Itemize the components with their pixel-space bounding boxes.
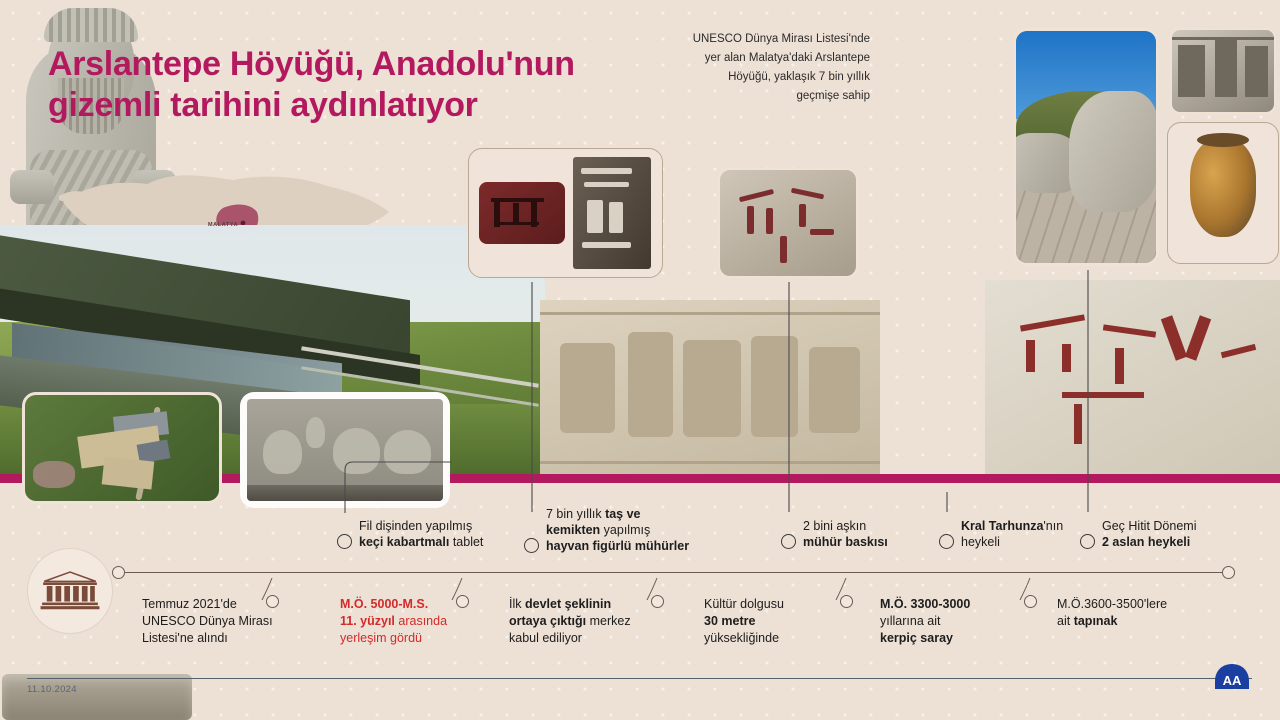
photo-seal-impression bbox=[718, 168, 858, 278]
map-region-label: MALATYA bbox=[208, 222, 238, 228]
photo-ivory-goat-tablet bbox=[240, 392, 450, 508]
callout-lions-text: Geç Hitit Dönemi 2 aslan heykeli bbox=[1102, 518, 1196, 550]
page-subtitle: UNESCO Dünya Mirası Listesi'nde yer alan… bbox=[690, 30, 870, 106]
callout-impression[interactable]: 2 bini aşkın mühür baskısı bbox=[781, 518, 888, 550]
callout-dot bbox=[1080, 534, 1095, 549]
callout-impression-text: 2 bini aşkın mühür baskısı bbox=[803, 518, 888, 550]
timeline-node bbox=[1222, 566, 1235, 579]
timeline-rule bbox=[118, 572, 1228, 573]
callout-seals[interactable]: 7 bin yıllık taş ve kemikten yapılmış ha… bbox=[524, 506, 689, 554]
timeline-item-3[interactable]: İlk devlet şeklinin ortaya çıktığı merke… bbox=[509, 596, 631, 646]
photo-animal-figure-seals bbox=[468, 148, 663, 278]
callout-tablet-text: Fil dişinden yapılmış keçi kabartmalı ta… bbox=[359, 518, 483, 550]
callout-king-text: Kral Tarhunza'nın heykeli bbox=[961, 518, 1063, 550]
callout-dot bbox=[337, 534, 352, 549]
photo-aerial-site bbox=[22, 392, 222, 504]
svg-text:AA: AA bbox=[1223, 673, 1242, 688]
timeline-item-4[interactable]: Kültür dolgusu 30 metre yüksekliğinde bbox=[704, 596, 784, 646]
timeline-node bbox=[266, 595, 279, 608]
timeline-node bbox=[651, 595, 664, 608]
callout-king[interactable]: Kral Tarhunza'nın heykeli bbox=[939, 518, 1063, 550]
photo-rock-art-wall bbox=[985, 280, 1280, 480]
photo-two-lion-sculptures bbox=[1013, 28, 1159, 266]
timeline-node bbox=[112, 566, 125, 579]
unesco-logo bbox=[27, 548, 113, 634]
timeline-node bbox=[840, 595, 853, 608]
unesco-temple-icon bbox=[39, 570, 101, 611]
photo-excavation-shelter bbox=[1170, 28, 1276, 114]
callout-dot bbox=[524, 538, 539, 553]
photo-ceramic-pot bbox=[1167, 122, 1279, 264]
timeline-item-2[interactable]: M.Ö. 5000-M.S. 11. yüzyıl arasında yerle… bbox=[340, 596, 447, 646]
footer-rule bbox=[27, 678, 1252, 679]
timeline-item-5[interactable]: M.Ö. 3300-3000 yıllarına ait kerpiç sara… bbox=[880, 596, 970, 646]
callout-seals-text: 7 bin yıllık taş ve kemikten yapılmış ha… bbox=[546, 506, 689, 554]
callout-dot bbox=[781, 534, 796, 549]
callout-tablet[interactable]: Fil dişinden yapılmış keçi kabartmalı ta… bbox=[337, 518, 483, 550]
page-title: Arslantepe Höyüğü, Anadolu'nun gizemli t… bbox=[48, 44, 708, 127]
timeline-node bbox=[456, 595, 469, 608]
aa-logo: AA bbox=[1212, 662, 1252, 697]
date-stamp: 11.10.2024 bbox=[27, 684, 77, 695]
callout-lions[interactable]: Geç Hitit Dönemi 2 aslan heykeli bbox=[1080, 518, 1196, 550]
timeline-item-6[interactable]: M.Ö.3600-3500'lere ait tapınak bbox=[1057, 596, 1167, 630]
photo-stone-relief-panel bbox=[540, 300, 880, 480]
timeline-item-1[interactable]: Temmuz 2021'de UNESCO Dünya Mirası Liste… bbox=[142, 596, 273, 646]
timeline-node bbox=[1024, 595, 1037, 608]
callout-dot bbox=[939, 534, 954, 549]
